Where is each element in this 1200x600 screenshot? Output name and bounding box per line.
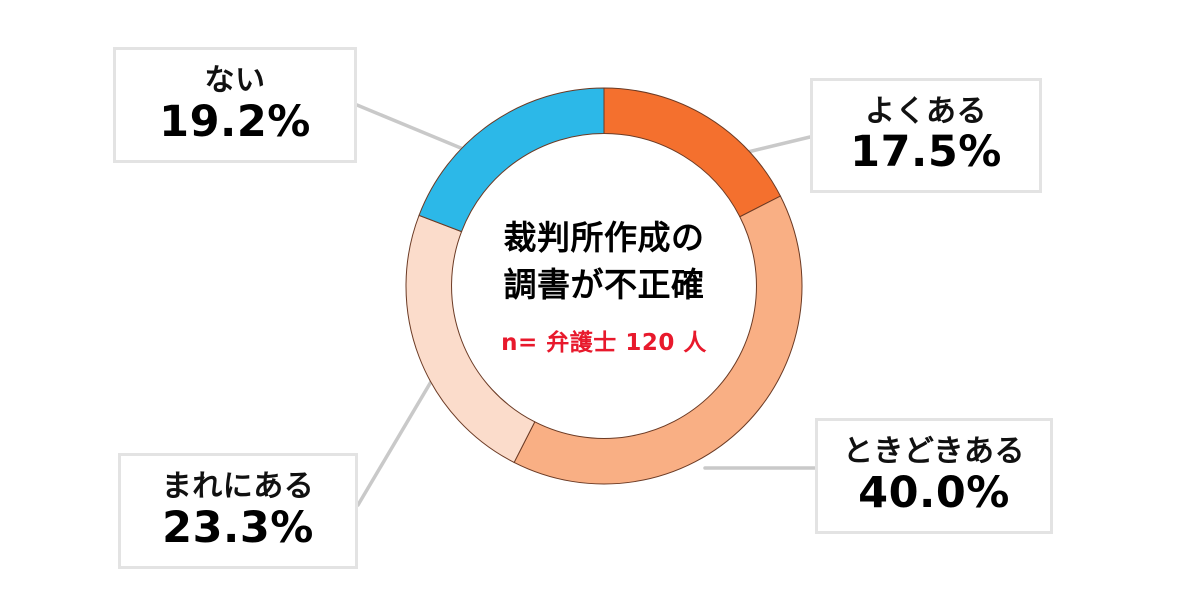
callout-box-mareni[interactable]: まれにある 23.3% <box>118 453 358 569</box>
donut-slice-tokidoki[interactable] <box>514 196 802 484</box>
callout-box-nai[interactable]: ない 19.2% <box>113 47 357 163</box>
donut-slice-nai[interactable] <box>419 88 604 232</box>
callout-label-yokuaru: よくある <box>865 96 987 128</box>
callout-value-mareni: 23.3% <box>162 506 314 551</box>
donut-slice-mareni[interactable] <box>406 215 535 462</box>
callout-box-yokuaru[interactable]: よくある 17.5% <box>810 78 1042 193</box>
callout-label-tokidoki: ときどきある <box>843 436 1025 468</box>
chart-canvas: 裁判所作成の 調書が不正確 n= 弁護士 120 人 ない 19.2% よくある… <box>0 0 1200 600</box>
callout-label-mareni: まれにある <box>162 471 315 503</box>
donut-slice-yokuaru[interactable] <box>604 88 780 217</box>
callout-box-tokidoki[interactable]: ときどきある 40.0% <box>815 418 1053 534</box>
callout-value-tokidoki: 40.0% <box>858 471 1010 516</box>
callout-label-nai: ない <box>205 65 266 97</box>
callout-value-yokuaru: 17.5% <box>850 130 1002 175</box>
donut-chart <box>405 87 803 485</box>
callout-value-nai: 19.2% <box>159 100 311 145</box>
